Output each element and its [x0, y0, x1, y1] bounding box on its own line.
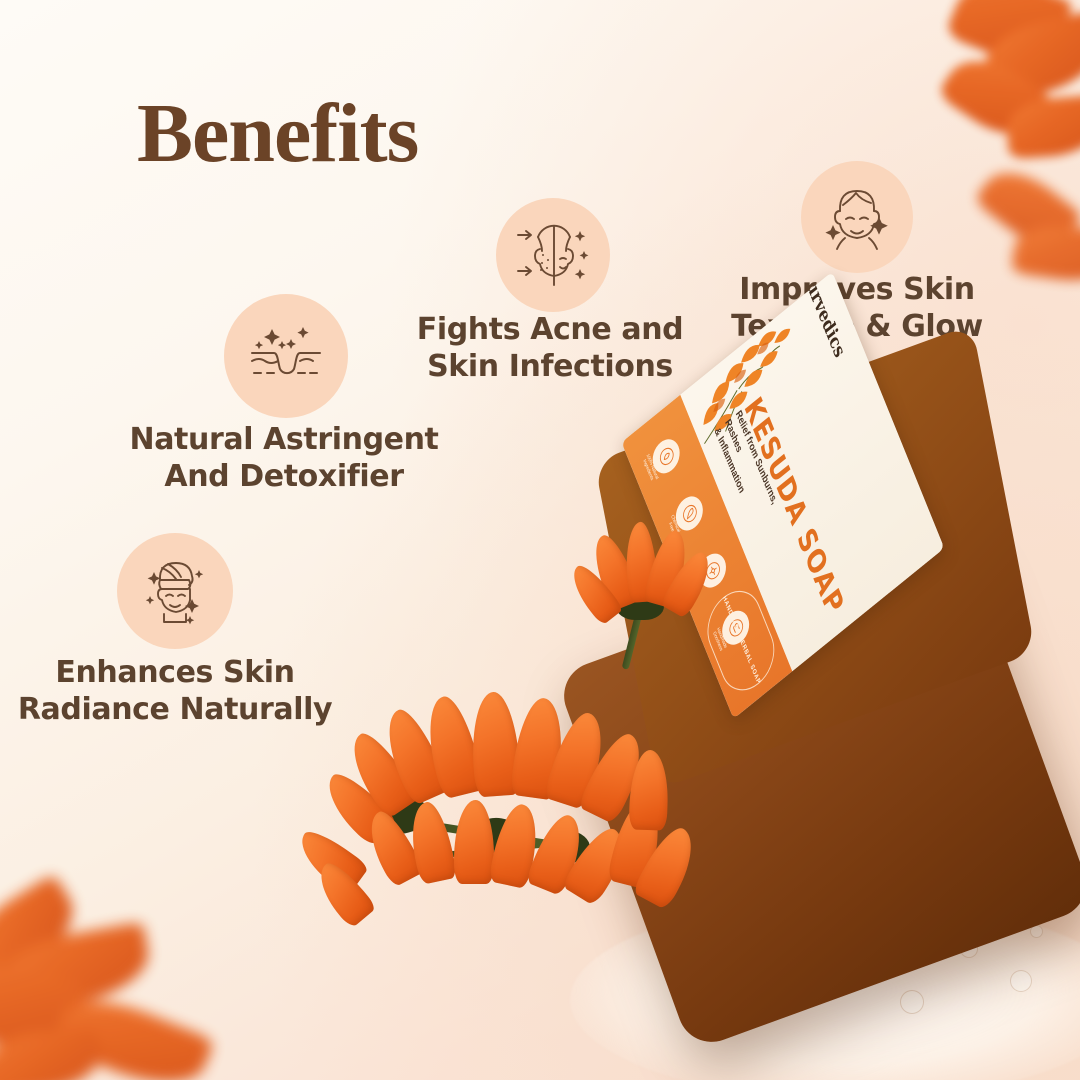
- benefit-label-fights-acne: Fights Acne and Skin Infections: [395, 312, 705, 385]
- glowing-face-sparkle-icon: [801, 161, 913, 273]
- product-shot: 100% Natural Ingredients Chemical Free: [600, 470, 1080, 1080]
- foam-bubble: [900, 990, 924, 1014]
- top-right-blurred-flower: [935, 0, 1080, 220]
- skin-pore-sparkle-icon: [224, 294, 348, 418]
- benefit-label-enhances-radiance: Enhances Skin Radiance Naturally: [10, 655, 340, 728]
- page-title: Benefits: [137, 92, 418, 176]
- spa-face-towel-icon: [117, 533, 233, 649]
- acne-face-before-after-icon: [496, 198, 610, 312]
- marketing-graphic-canvas: Benefits Natural Astringent And Detoxifi…: [0, 0, 1080, 1080]
- bottom-left-blurred-flower: [0, 900, 270, 1080]
- herbal-badge-icon: 100% Natural Ingredients: [648, 433, 684, 480]
- foam-bubble: [1010, 970, 1032, 992]
- kesuda-palash-flower-cluster: [330, 500, 800, 950]
- flower-petal: [454, 800, 494, 884]
- benefit-label-natural-astringent: Natural Astringent And Detoxifier: [106, 422, 462, 495]
